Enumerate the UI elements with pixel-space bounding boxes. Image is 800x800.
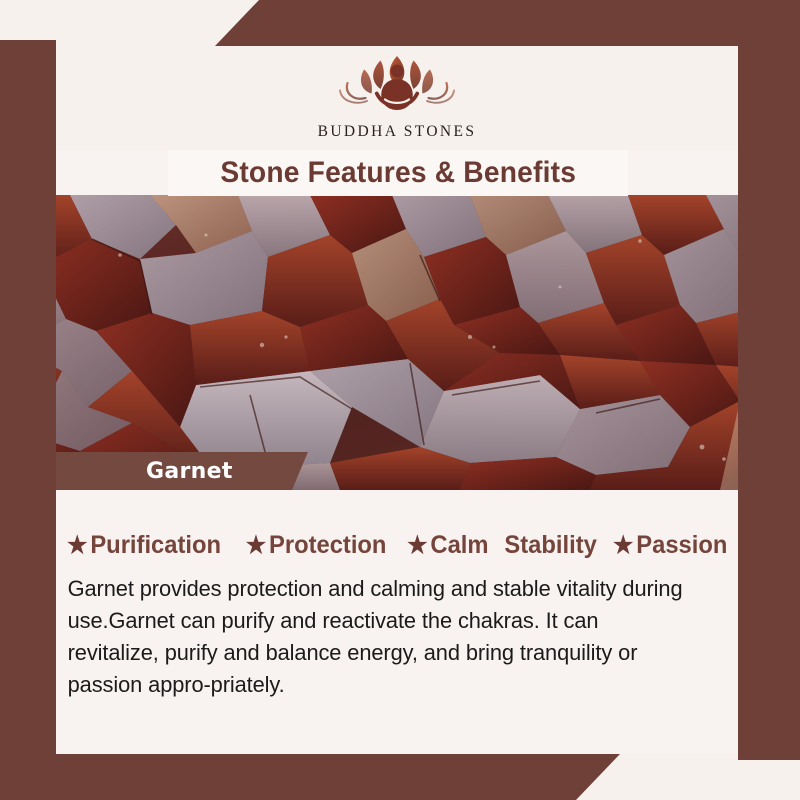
content-card: BUDDHA STONES <box>56 46 738 754</box>
benefit-item-stability: Stability <box>505 533 597 558</box>
garnet-crystal-photo <box>56 195 738 490</box>
star-icon: ★ <box>67 534 87 558</box>
frame-accent-top-right <box>215 0 800 46</box>
benefits-row: ★ Purification ★ Protection ★ Calm Stabi… <box>56 533 738 558</box>
benefit-label: Purification <box>91 533 222 558</box>
stone-name-banner: Garnet <box>56 452 308 490</box>
benefit-label: Protection <box>269 533 386 558</box>
benefit-item-calm: ★ Calm <box>408 533 489 558</box>
star-icon: ★ <box>408 534 428 558</box>
benefit-label: Passion <box>637 533 728 558</box>
brand-header: BUDDHA STONES <box>56 46 738 150</box>
frame-accent-bottom-left <box>0 754 620 800</box>
frame-accent-left <box>0 40 56 800</box>
description-paragraph: Garnet provides protection and calming a… <box>56 573 696 701</box>
title-banner: Stone Features & Benefits <box>168 150 628 196</box>
star-icon: ★ <box>613 534 633 558</box>
benefit-label: Stability <box>505 533 597 558</box>
frame-accent-right <box>738 0 800 760</box>
benefit-label: Calm <box>431 533 489 558</box>
lotus-meditating-figure-icon <box>322 46 472 122</box>
page-title: Stone Features & Benefits <box>220 156 576 190</box>
benefit-item-passion: ★ Passion <box>613 533 727 558</box>
stone-name-label: Garnet <box>146 459 233 484</box>
star-icon: ★ <box>246 534 266 558</box>
benefit-item-protection: ★ Protection <box>246 533 387 558</box>
infographic-page: BUDDHA STONES <box>0 0 800 800</box>
brand-name: BUDDHA STONES <box>318 123 477 141</box>
benefit-item-purification: ★ Purification <box>67 533 221 558</box>
